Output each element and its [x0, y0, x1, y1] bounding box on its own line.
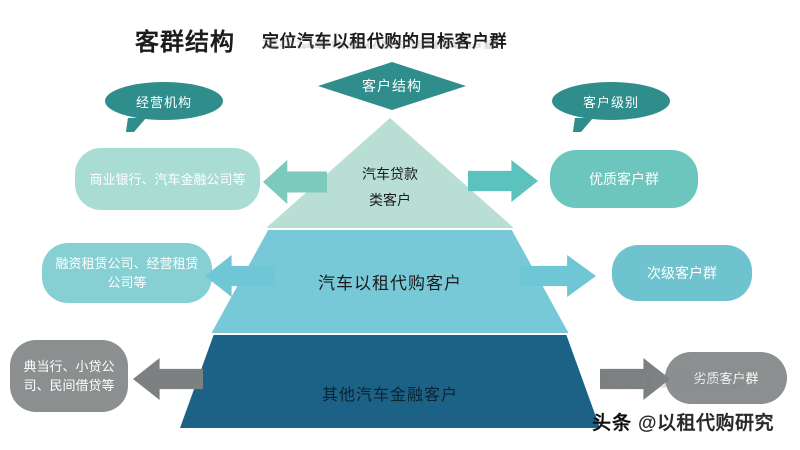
bubble-tail-icon — [126, 118, 146, 132]
diamond-客户结构: 客户结构 — [318, 62, 466, 110]
right-box-prime: 优质客户群 — [550, 150, 698, 208]
callout-bubble-operating-institutions: 经营机构 — [105, 82, 223, 120]
pyramid-tier-bottom: 其他汽车金融客户 — [180, 335, 600, 428]
callout-bubble-right-label: 客户级别 — [583, 92, 639, 111]
watermark: 头条 @以租代购研究 — [592, 408, 774, 435]
left-box-pawnshops: 典当行、小贷公司、民间借贷等 — [10, 340, 128, 412]
left-box-banks: 商业银行、汽车金融公司等 — [75, 148, 260, 210]
callout-bubble-left-label: 经营机构 — [136, 92, 192, 111]
right-box-subprime: 次级客户群 — [612, 245, 752, 301]
page-subtitle-reflection: 定位汽车以租代购的目标客户群 — [262, 38, 500, 52]
diamond-label: 客户结构 — [362, 76, 422, 96]
callout-bubble-customer-level: 客户级别 — [552, 82, 670, 120]
pyramid-tier-bottom-label: 其他汽车金融客户 — [322, 381, 458, 405]
pyramid-tier-top-label: 汽车贷款 类客户 — [362, 161, 418, 213]
watermark-badge: 头条 — [592, 408, 632, 435]
pyramid-tier-middle-label: 汽车以租代购客户 — [318, 269, 462, 294]
watermark-reflection: @以租代购研究 — [612, 370, 745, 392]
left-box-leasing: 融资租赁公司、经营租赁公司等 — [42, 243, 212, 303]
watermark-handle: @以租代购研究 — [638, 408, 774, 435]
diagram-canvas: 客群结构 定位汽车以租代购的目标客户群 定位汽车以租代购的目标客户群 客户结构 … — [0, 0, 800, 450]
page-title: 客群结构 — [135, 22, 235, 57]
